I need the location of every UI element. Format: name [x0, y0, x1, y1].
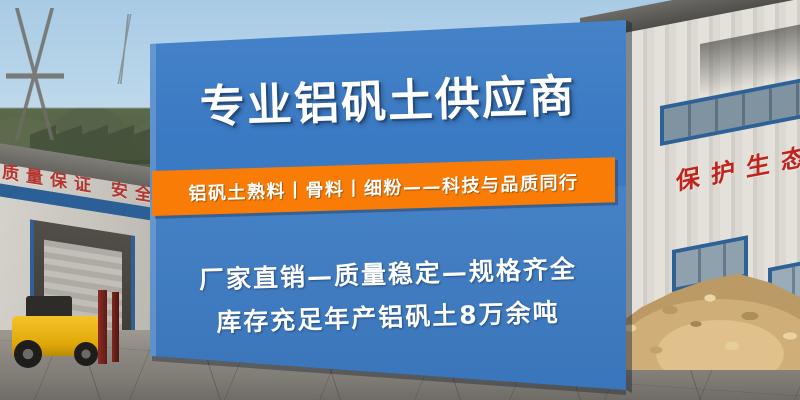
banner-content: 专业铝矾土供应商 铝矾土熟料丨骨料丨细粉——科技与品质同行 厂家直销—质量稳定—…	[0, 0, 800, 400]
promo-banner: 质量保证 安全为首 保护生态 专业铝矾土供应商 铝矾土	[0, 0, 800, 400]
banner-subline-1: 厂家直销—质量稳定—规格齐全	[149, 248, 626, 298]
orange-ribbon-text: 铝矾土熟料丨骨料丨细粉——科技与品质同行	[152, 157, 615, 216]
banner-subline-2: 库存充足年产铝矾土8万余吨	[149, 291, 626, 341]
banner-headline: 专业铝矾土供应商	[149, 66, 627, 138]
